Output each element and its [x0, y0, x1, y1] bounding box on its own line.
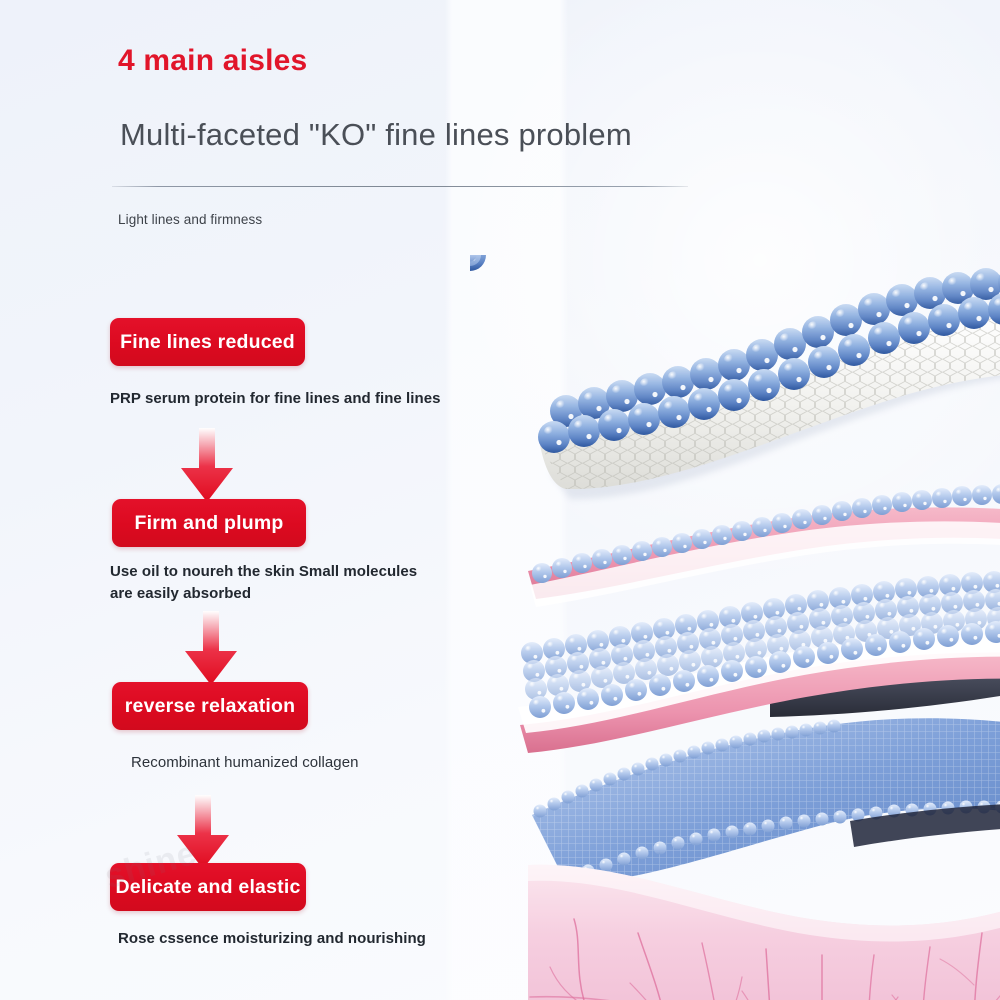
flow-badge-3-label: reverse relaxation [125, 695, 296, 718]
flow-caption-1-line1: PRP serum protein for fine lines and fin… [110, 388, 440, 410]
flow-arrow-2-icon [183, 611, 239, 685]
flow-caption-2-line2: are easily absorbed [110, 583, 417, 605]
layer-beads-honeycomb [470, 255, 1000, 515]
flow-badge-3: reverse relaxation [112, 682, 308, 730]
flow-arrow-3-icon [175, 795, 231, 869]
benefit-flow: Fine lines reduced PRP serum protein for… [0, 0, 470, 1000]
flow-caption-3: Recombinant humanized collagen [131, 752, 358, 774]
flow-badge-2: Firm and plump [112, 499, 306, 547]
flow-caption-4: Rose cssence moisturizing and nourishing [118, 928, 426, 950]
flow-badge-4-label: Delicate and elastic [116, 876, 301, 899]
flow-badge-4: Delicate and elastic [110, 863, 306, 911]
flow-caption-3-line1: Recombinant humanized collagen [131, 752, 358, 774]
flow-caption-4-line1: Rose cssence moisturizing and nourishing [118, 928, 426, 950]
flow-arrow-1-icon [179, 428, 235, 502]
flow-badge-2-label: Firm and plump [134, 512, 283, 535]
flow-caption-2-line1: Use oil to noureh the skin Small molecul… [110, 561, 417, 583]
poster-root: 4 main aisles Multi-faceted "KO" fine li… [0, 0, 1000, 1000]
flow-caption-2: Use oil to noureh the skin Small molecul… [110, 561, 417, 605]
skin-layers-illustration [470, 255, 1000, 1000]
layer-dermis [528, 865, 1000, 1000]
flow-badge-1: Fine lines reduced [110, 318, 305, 366]
flow-caption-1: PRP serum protein for fine lines and fin… [110, 388, 440, 410]
flow-badge-1-label: Fine lines reduced [120, 331, 295, 354]
